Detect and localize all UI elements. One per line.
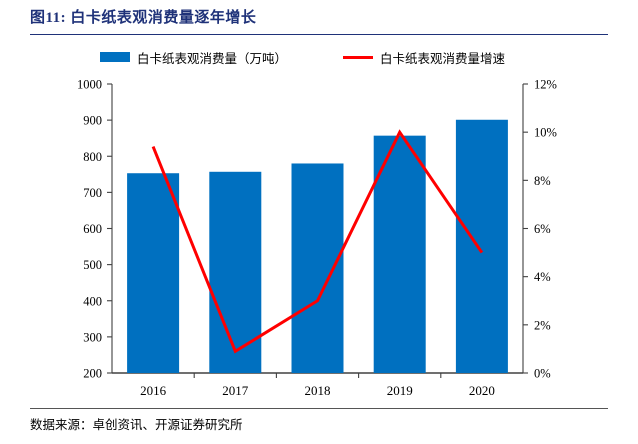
bar-2017 bbox=[209, 172, 261, 373]
x-axis-category-label: 2018 bbox=[305, 383, 331, 398]
chart-svg: 20030040050060070080090010000%2%4%6%8%10… bbox=[0, 0, 638, 444]
right-axis-tick-label: 6% bbox=[534, 222, 551, 236]
plot-area: 20030040050060070080090010000%2%4%6%8%10… bbox=[0, 0, 638, 444]
left-axis-tick-label: 800 bbox=[83, 150, 102, 164]
left-axis-tick-label: 500 bbox=[83, 258, 102, 272]
bar-2018 bbox=[292, 163, 344, 373]
right-axis-tick-label: 2% bbox=[534, 318, 551, 332]
left-axis-tick-label: 400 bbox=[83, 294, 102, 308]
bar-2020 bbox=[456, 120, 508, 373]
right-axis-tick-label: 8% bbox=[534, 174, 551, 188]
x-axis-category-label: 2019 bbox=[387, 383, 413, 398]
left-axis-tick-label: 1000 bbox=[77, 78, 102, 92]
figure-container: 图11: 白卡纸表观消费量逐年增长 白卡纸表观消费量（万吨） 白卡纸表观消费量增… bbox=[0, 0, 638, 444]
right-axis-tick-label: 0% bbox=[534, 367, 551, 381]
left-axis-tick-label: 200 bbox=[83, 367, 102, 381]
left-axis-tick-label: 700 bbox=[83, 186, 102, 200]
bars-layer bbox=[127, 120, 508, 373]
x-axis-category-label: 2016 bbox=[140, 383, 167, 398]
source-note: 数据来源：卓创资讯、开源证券研究所 bbox=[30, 414, 243, 433]
left-axis-tick-label: 900 bbox=[83, 114, 102, 128]
x-axis-category-label: 2017 bbox=[222, 383, 249, 398]
right-axis-tick-label: 10% bbox=[534, 126, 557, 140]
left-axis-tick-label: 300 bbox=[83, 330, 102, 344]
footer-divider bbox=[30, 408, 608, 409]
right-axis-tick-label: 4% bbox=[534, 270, 551, 284]
left-axis-tick-label: 600 bbox=[83, 222, 102, 236]
x-axis-category-label: 2020 bbox=[469, 383, 495, 398]
bar-2016 bbox=[127, 173, 179, 373]
right-axis-tick-label: 12% bbox=[534, 78, 557, 92]
